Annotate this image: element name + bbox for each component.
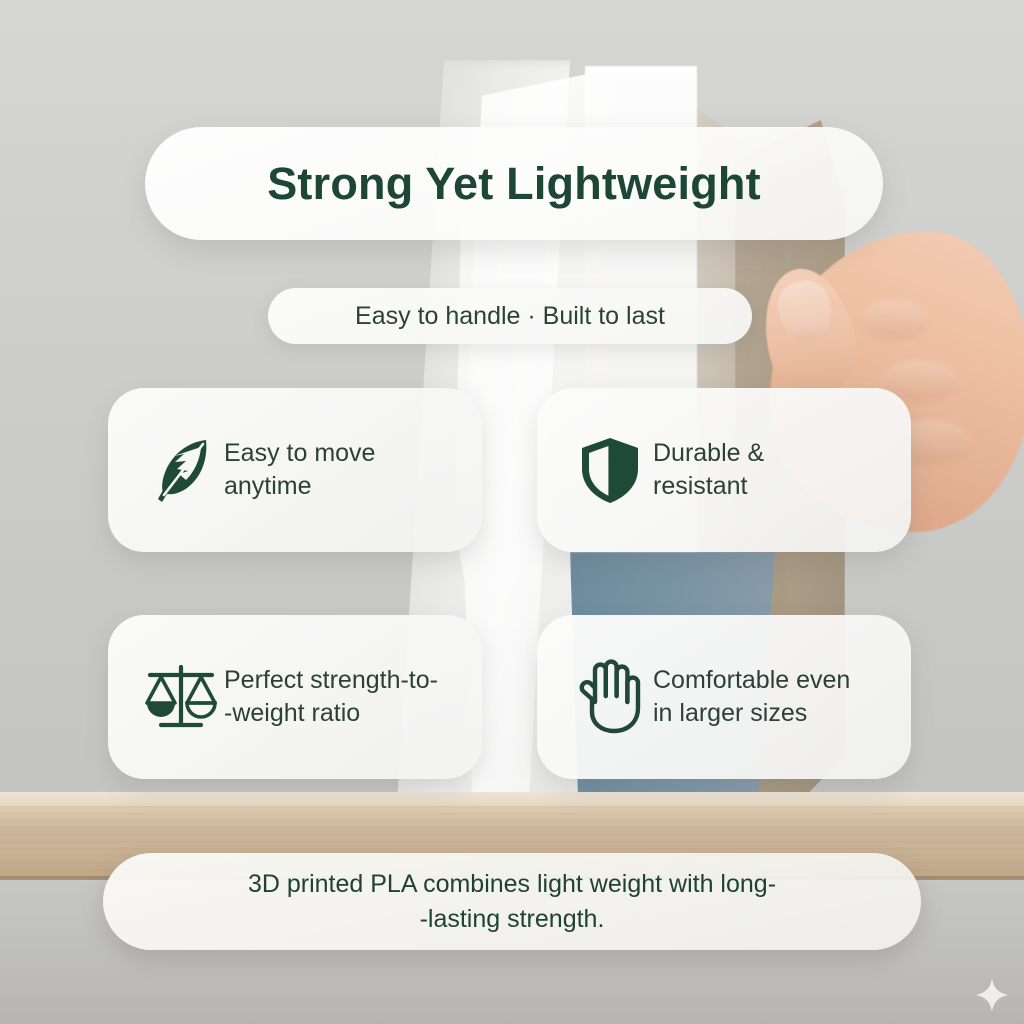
feather-icon <box>138 433 224 507</box>
feature-line-1: Perfect strength-to- <box>224 664 438 697</box>
feature-card-strength-to-weight[interactable]: Perfect strength-to- -weight ratio <box>108 615 482 779</box>
open-hand-icon <box>567 658 653 736</box>
feature-card-text: Comfortable even in larger sizes <box>653 664 850 730</box>
promo-infographic: Strong Yet Lightweight Easy to handle · … <box>0 0 1024 1024</box>
feature-card-text: Easy to move anytime <box>224 437 375 503</box>
feature-card-comfortable[interactable]: Comfortable even in larger sizes <box>537 615 911 779</box>
footer-pill: 3D printed PLA combines light weight wit… <box>103 853 921 950</box>
feature-line-1: Comfortable even <box>653 664 850 697</box>
knuckle-shade-1 <box>860 300 930 340</box>
feature-line-2: resistant <box>653 470 764 503</box>
feature-card-durable[interactable]: Durable & resistant <box>537 388 911 552</box>
subtitle-pill: Easy to handle · Built to last <box>268 288 752 344</box>
feature-card-text: Perfect strength-to- -weight ratio <box>224 664 438 730</box>
feature-line-2: -weight ratio <box>224 697 438 730</box>
footer-line-1: 3D printed PLA combines light weight wit… <box>248 867 776 902</box>
feature-card-text: Durable & resistant <box>653 437 764 503</box>
balance-scale-icon <box>138 661 224 733</box>
page-title: Strong Yet Lightweight <box>267 158 761 210</box>
page-subtitle: Easy to handle · Built to last <box>355 302 665 331</box>
sparkle-icon <box>975 978 1009 1012</box>
title-pill: Strong Yet Lightweight <box>145 127 883 240</box>
feature-line-2: in larger sizes <box>653 697 850 730</box>
feature-card-easy-to-move[interactable]: Easy to move anytime <box>108 388 482 552</box>
footer-line-2: -lasting strength. <box>420 902 605 937</box>
feature-line-1: Durable & <box>653 437 764 470</box>
feature-line-2: anytime <box>224 470 375 503</box>
feature-line-1: Easy to move <box>224 437 375 470</box>
shield-icon <box>567 433 653 507</box>
